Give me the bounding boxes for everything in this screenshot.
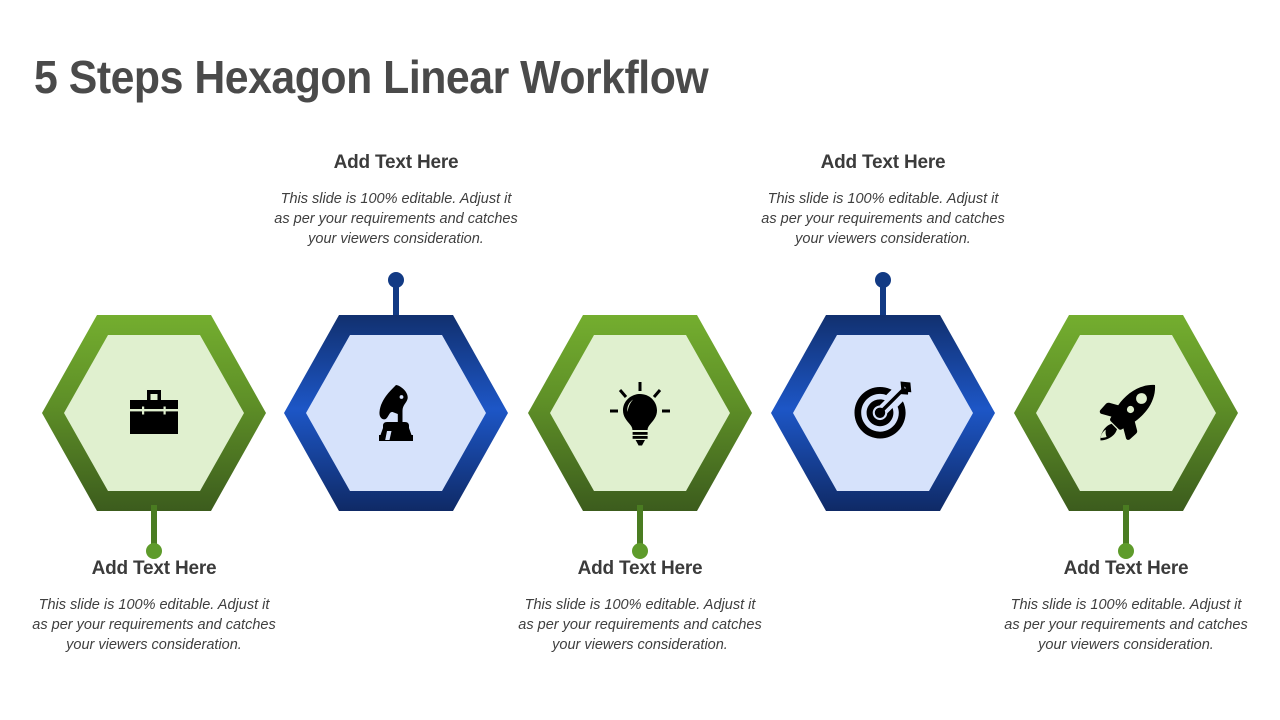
lightbulb-icon — [526, 313, 754, 513]
step-body: This slide is 100% editable. Adjust it a… — [271, 189, 521, 249]
hexagon-1[interactable] — [40, 313, 268, 513]
connector-step-3 — [637, 505, 643, 565]
text-block-3: Add Text Here This slide is 100% editabl… — [515, 558, 765, 655]
connector-dot — [1118, 543, 1134, 559]
slide-canvas: 5 Steps Hexagon Linear Workflow — [0, 0, 1280, 720]
step-heading: Add Text Here — [758, 152, 1008, 174]
text-block-1: Add Text Here This slide is 100% editabl… — [29, 558, 279, 655]
text-block-5: Add Text Here This slide is 100% editabl… — [1001, 558, 1251, 655]
step-heading: Add Text Here — [1001, 558, 1251, 580]
target-icon — [769, 313, 997, 513]
step-5[interactable]: Add Text Here This slide is 100% editabl… — [996, 0, 1256, 720]
hexagon-3[interactable] — [526, 313, 754, 513]
connector-dot — [146, 543, 162, 559]
connector-step-1 — [151, 505, 157, 565]
step-body: This slide is 100% editable. Adjust it a… — [758, 189, 1008, 249]
hexagon-4[interactable] — [769, 313, 997, 513]
text-block-4: Add Text Here This slide is 100% editabl… — [758, 152, 1008, 249]
hexagon-2[interactable] — [282, 313, 510, 513]
step-body: This slide is 100% editable. Adjust it a… — [29, 595, 279, 655]
connector-step-5 — [1123, 505, 1129, 565]
rocket-icon — [1012, 313, 1240, 513]
chess-knight-icon — [282, 313, 510, 513]
step-4[interactable]: Add Text Here This slide is 100% editabl… — [753, 0, 1013, 720]
step-body: This slide is 100% editable. Adjust it a… — [1001, 595, 1251, 655]
step-3[interactable]: Add Text Here This slide is 100% editabl… — [510, 0, 770, 720]
step-2[interactable]: Add Text Here This slide is 100% editabl… — [266, 0, 526, 720]
step-body: This slide is 100% editable. Adjust it a… — [515, 595, 765, 655]
step-heading: Add Text Here — [271, 152, 521, 174]
hexagon-5[interactable] — [1012, 313, 1240, 513]
connector-dot — [632, 543, 648, 559]
text-block-2: Add Text Here This slide is 100% editabl… — [271, 152, 521, 249]
briefcase-icon — [40, 313, 268, 513]
step-heading: Add Text Here — [29, 558, 279, 580]
step-1[interactable]: Add Text Here This slide is 100% editabl… — [24, 0, 284, 720]
step-heading: Add Text Here — [515, 558, 765, 580]
